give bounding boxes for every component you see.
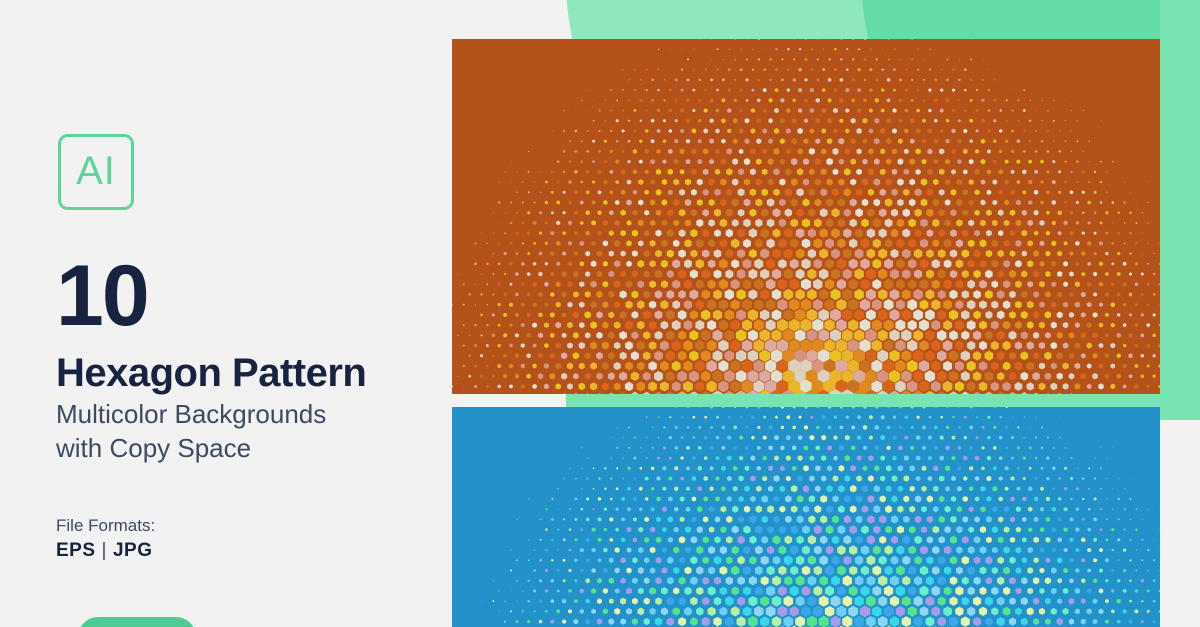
hexagon-pattern-blue bbox=[452, 407, 1160, 627]
cta-pill-button[interactable] bbox=[78, 617, 196, 627]
subtitle-line-1: Multicolor Backgrounds bbox=[56, 398, 326, 432]
preview-blue[interactable] bbox=[452, 407, 1160, 627]
item-count: 10 bbox=[56, 253, 148, 339]
format-separator: | bbox=[96, 540, 113, 561]
format-jpg: JPG bbox=[113, 540, 153, 561]
page-title: Hexagon Pattern bbox=[56, 352, 366, 395]
hexagon-pattern-orange bbox=[452, 39, 1160, 394]
poster-canvas: AI 10 Hexagon Pattern Multicolor Backgro… bbox=[0, 0, 1200, 627]
file-formats-value: EPS|JPG bbox=[56, 540, 153, 562]
preview-orange[interactable] bbox=[452, 39, 1160, 394]
file-formats-label: File Formats: bbox=[56, 516, 155, 536]
decorative-green-strip bbox=[1160, 0, 1200, 420]
format-eps: EPS bbox=[56, 540, 96, 561]
page-subtitle: Multicolor Backgrounds with Copy Space bbox=[56, 398, 326, 466]
info-column: AI 10 Hexagon Pattern Multicolor Backgro… bbox=[0, 0, 452, 627]
ai-format-badge: AI bbox=[58, 134, 134, 210]
ai-badge-label: AI bbox=[76, 151, 116, 191]
subtitle-line-2: with Copy Space bbox=[56, 432, 326, 466]
